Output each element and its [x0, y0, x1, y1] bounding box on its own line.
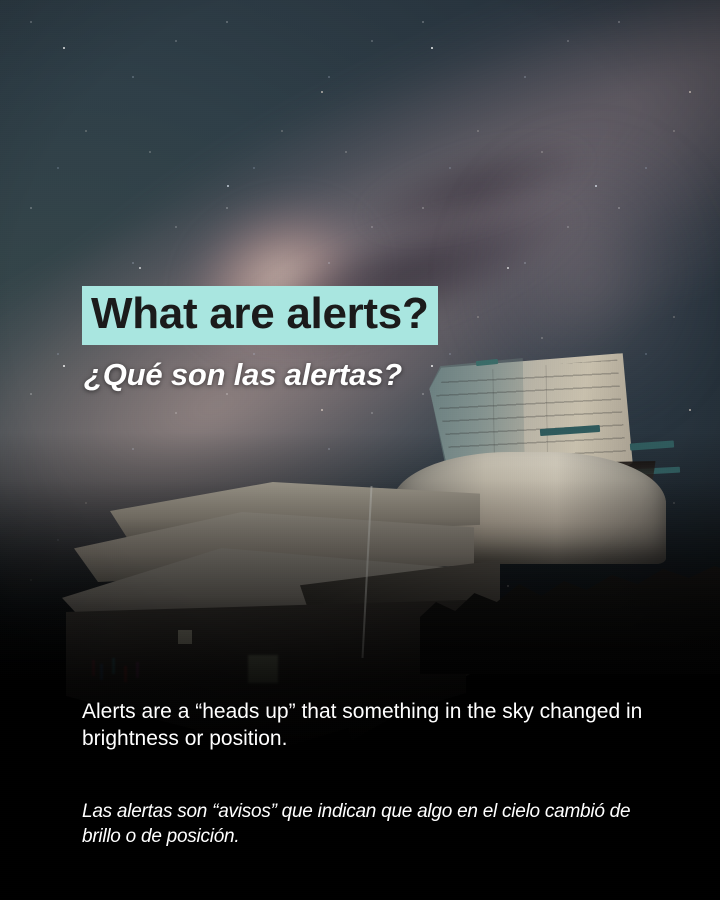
description-english: Alerts are a “heads up” that something i… — [82, 698, 648, 753]
info-card: What are alerts? ¿Qué son las alertas? A… — [0, 0, 720, 900]
page-title: What are alerts? — [82, 286, 438, 345]
description-block: Alerts are a “heads up” that something i… — [82, 698, 648, 849]
title-block: What are alerts? — [82, 286, 438, 345]
card-content: What are alerts? ¿Qué son las alertas? A… — [0, 0, 720, 900]
page-subtitle-spanish: ¿Qué son las alertas? — [84, 357, 402, 393]
description-spanish: Las alertas son “avisos” que indican que… — [82, 799, 648, 849]
